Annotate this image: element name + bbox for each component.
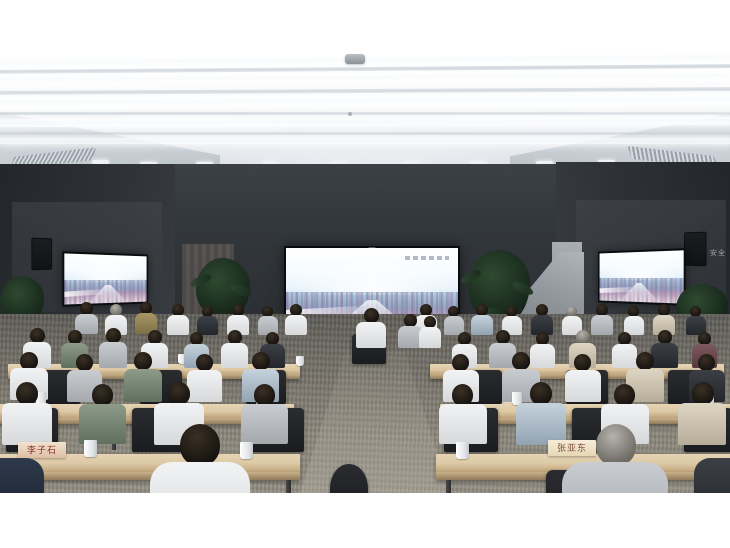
sky <box>64 253 146 282</box>
side-display-left <box>62 251 148 307</box>
paper-cup <box>296 356 304 366</box>
smoke-detector-icon <box>345 54 365 64</box>
screen-caption-text <box>405 256 450 260</box>
letterbox-top <box>0 0 730 52</box>
name-placard-left: 李子石 <box>18 442 66 458</box>
ceiling-rail <box>0 112 730 115</box>
display-content <box>600 250 684 303</box>
sky <box>600 250 684 280</box>
ceiling-light-strip <box>0 138 730 144</box>
conference-room-photograph: 安全 <box>0 52 730 493</box>
paper-cup <box>240 442 253 459</box>
ceiling-rail <box>0 132 730 135</box>
wall-sign-text: 安全 <box>710 248 726 258</box>
wall-speaker-left <box>31 238 52 271</box>
paper-cup <box>84 440 97 457</box>
table-leg <box>286 480 291 493</box>
name-placard-right: 张亚东 <box>548 440 596 456</box>
letterbox-bottom <box>0 493 730 548</box>
display-content <box>64 253 146 304</box>
wall-speaker-right <box>684 232 707 267</box>
ceiling-sensor-icon <box>348 112 352 116</box>
side-display-right <box>598 248 686 306</box>
photo-screenshot: 安全 <box>0 0 730 548</box>
plant-leaf <box>229 282 253 299</box>
table-leg <box>446 480 451 493</box>
paper-cup <box>456 442 469 459</box>
